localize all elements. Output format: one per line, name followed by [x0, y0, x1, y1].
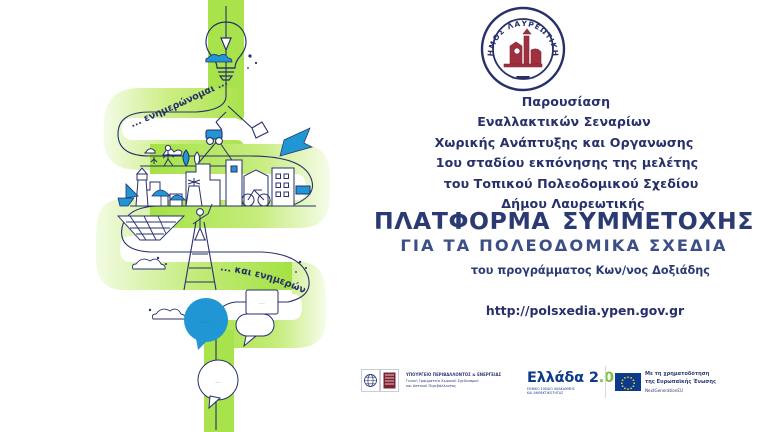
cloud-shape-c — [149, 309, 185, 319]
poster-root: ... ... ... ... ενημερώνομαι ... ... — [0, 0, 768, 432]
platform-url[interactable]: http://polsxedia.ypen.gov.gr — [360, 303, 768, 318]
presentation-line-3: Χωρικής Ανάπτυξης και Οργανωσης — [360, 133, 768, 153]
presentation-line-5: του Τοπικού Πολεοδομικού Σχεδίου — [360, 174, 768, 194]
lighthouse — [136, 168, 148, 206]
cloud-shape-b — [132, 259, 165, 269]
bubble-dots-a: ... — [203, 317, 210, 325]
greece-logo-wordmark: Ελλάδα 2.0 — [527, 370, 614, 386]
page-subtitle: ΓΙΑ ΤΑ ΠΟΛΕΟΔΟΜΙΚΑ ΣΧΕΔΙΑ — [360, 236, 768, 255]
municipality-seal: ΔΗΜΟΣ ΛΑΥΡΕΩΤΙΚΗΣ — [480, 6, 566, 92]
eu-line-3: NextGenerationEU — [645, 388, 716, 393]
title-word-symmetoxis: ΣΥΜΜΕΤΟΧΗΣ — [562, 207, 754, 235]
bubble-dots-b: ... — [259, 299, 265, 306]
bubble-dots-c: ... — [215, 378, 221, 385]
ministry-logo: ΥΠΟΥΡΓΕΙΟ ΠΕΡΙΒΑΛΛΟΝΤΟΣ & ΕΝΕΡΓΕΙΑΣ Γενι… — [361, 369, 501, 392]
footer-logos: ΥΠΟΥΡΓΕΙΟ ΠΕΡΙΒΑΛΛΟΝΤΟΣ & ΕΝΕΡΓΕΙΑΣ Γενι… — [355, 362, 725, 410]
presentation-text: Παρουσίαση Εναλλακτικών Σεναρίων Χωρικής… — [360, 92, 768, 214]
ministry-line-1: ΥΠΟΥΡΓΕΙΟ ΠΕΡΙΒΑΛΛΟΝΤΟΣ & ΕΝΕΡΓΕΙΑΣ — [406, 372, 501, 377]
greece-2-0-logo: Ελλάδα 2.0 ΕΘΝΙΚΟ ΣΧΕΔΙΟ ΑΝΑΚΑΜΨΗΣ ΚΑΙ Α… — [527, 370, 614, 395]
greece-two: 2 — [589, 370, 599, 386]
serpentine-illustration: ... ... ... ... ενημερώνομαι ... ... — [0, 0, 360, 432]
ministry-line-3: και Αστικού Περιβάλλοντος — [406, 384, 501, 389]
page-title: ΠΛΑΤΦΟΡΜΑΣΥΜΜΕΤΟΧΗΣ — [360, 207, 768, 235]
presentation-line-4: 1ου σταδίου εκπόνησης της μελέτης — [360, 153, 768, 173]
bulb-sparkles — [247, 54, 257, 69]
presentation-line-1: Παρουσίαση — [360, 92, 768, 112]
greece-sub-line-2: ΚΑΙ ΑΝΘΕΚΤΙΚΟΤΗΤΑΣ — [527, 391, 614, 395]
ministry-crest-icon — [380, 369, 399, 392]
globe-icon — [361, 369, 380, 392]
eu-funding-logo: Με τη χρηματοδότηση της Ευρωπαϊκής Ένωση… — [605, 366, 716, 398]
eu-flag-icon — [615, 373, 641, 391]
greece-word: Ελλάδα — [527, 370, 584, 386]
presentation-line-2: Εναλλακτικών Σεναρίων — [360, 112, 768, 132]
programme-name: του προγράμματος Κων/νος Δοξιάδης — [360, 264, 768, 277]
title-word-platforma: ΠΛΑΤΦΟΡΜΑ — [374, 207, 550, 235]
eu-line-1: Με τη χρηματοδότηση — [645, 371, 716, 379]
eu-line-2: της Ευρωπαϊκής Ένωσης — [645, 379, 716, 387]
